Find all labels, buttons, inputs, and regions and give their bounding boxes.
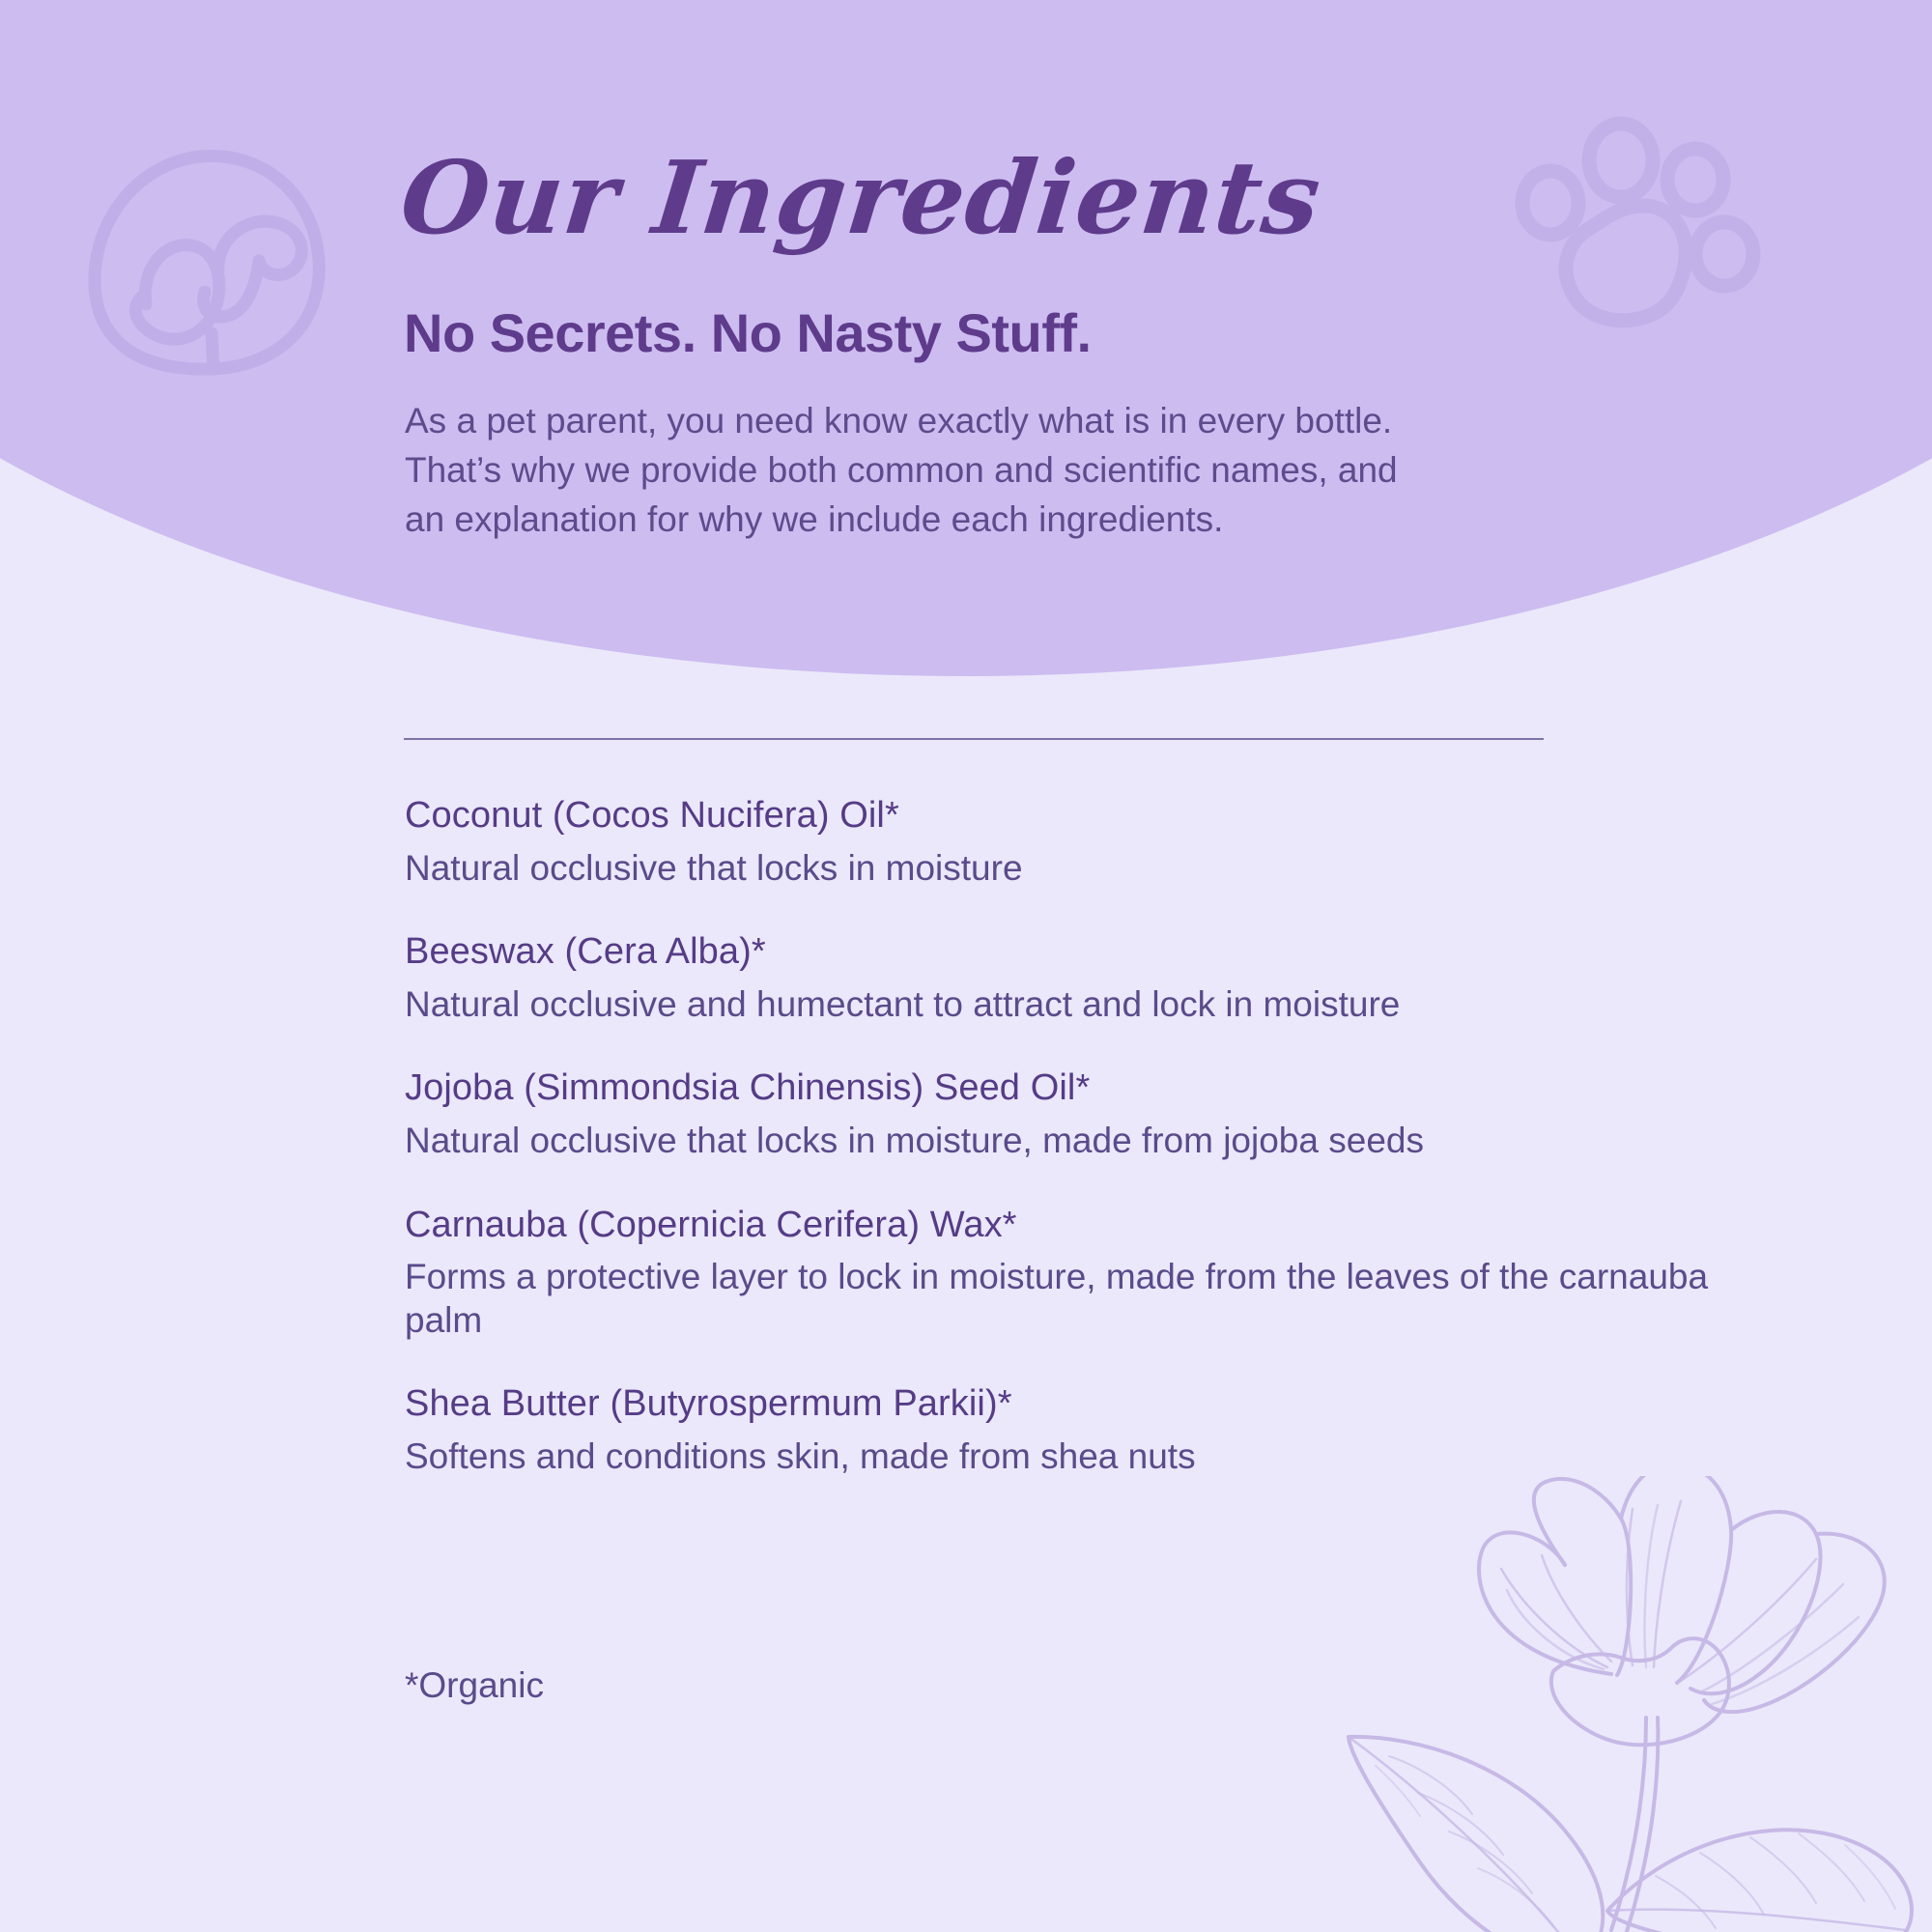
intro-line: an explanation for why we include each i… [405,495,1398,544]
list-item: Beeswax (Cera Alba)* Natural occlusive a… [405,930,1757,1026]
ingredient-name: Carnauba (Copernicia Cerifera) Wax* [405,1204,1757,1247]
page-subtitle: No Secrets. No Nasty Stuff. [404,301,1092,364]
page-title: Our Ingredients [396,145,1325,250]
page-content: Our Ingredients No Secrets. No Nasty Stu… [0,0,1932,1932]
ingredient-name: Shea Butter (Butyrospermum Parkii)* [405,1382,1757,1426]
ingredient-description: Natural occlusive and humectant to attra… [405,983,1747,1026]
ingredient-description: Natural occlusive that locks in moisture… [405,1120,1747,1162]
list-item: Shea Butter (Butyrospermum Parkii)* Soft… [405,1382,1757,1478]
ingredients-page: Our Ingredients No Secrets. No Nasty Stu… [0,0,1932,1932]
ingredient-name: Coconut (Cocos Nucifera) Oil* [405,794,1757,838]
list-item: Carnauba (Copernicia Cerifera) Wax* Form… [405,1204,1757,1343]
list-item: Jojoba (Simmondsia Chinensis) Seed Oil* … [405,1066,1757,1162]
list-item: Coconut (Cocos Nucifera) Oil* Natural oc… [405,794,1757,890]
intro-line: As a pet parent, you need know exactly w… [405,396,1398,445]
ingredient-description: Natural occlusive that locks in moisture [405,847,1747,890]
intro-line: That’s why we provide both common and sc… [405,445,1398,495]
ingredient-name: Jojoba (Simmondsia Chinensis) Seed Oil* [405,1066,1757,1110]
ingredient-name: Beeswax (Cera Alba)* [405,930,1757,974]
ingredient-description: Softens and conditions skin, made from s… [405,1435,1747,1478]
organic-footnote: *Organic [405,1665,544,1706]
ingredients-list: Coconut (Cocos Nucifera) Oil* Natural oc… [405,794,1757,1519]
section-divider [404,738,1544,740]
intro-paragraph: As a pet parent, you need know exactly w… [405,396,1398,544]
ingredient-description: Forms a protective layer to lock in mois… [405,1256,1747,1342]
